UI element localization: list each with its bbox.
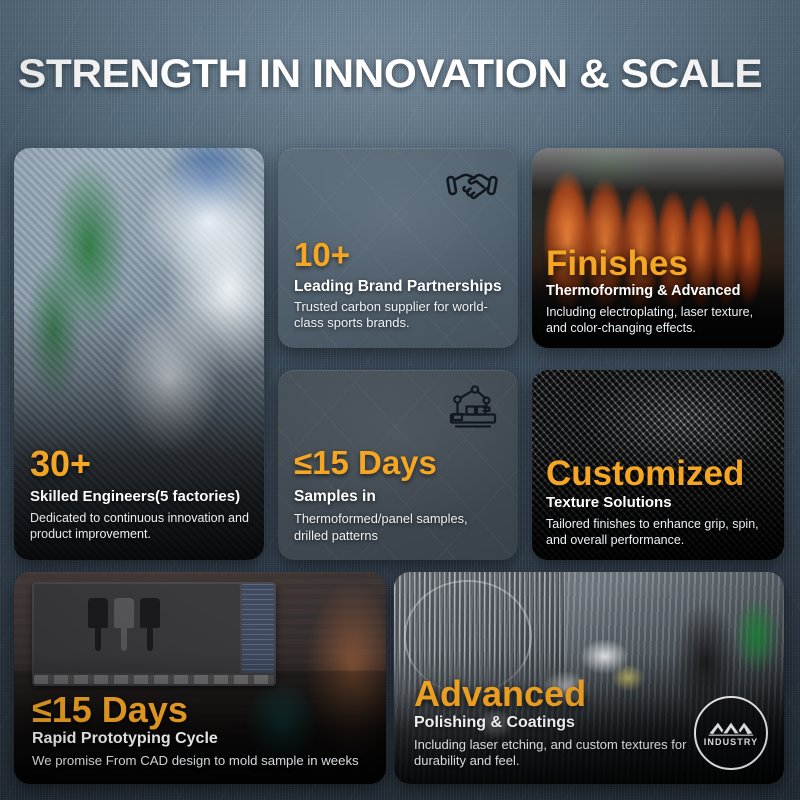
- card-body: Tailored finishes to enhance grip, spin,…: [546, 516, 778, 548]
- card-advanced-polishing[interactable]: Advanced Polishing & Coatings Including …: [394, 572, 784, 784]
- card-text-block: ≤15 Days Rapid Prototyping Cycle We prom…: [32, 692, 374, 770]
- card-body: Thermoformed/panel samples, drilled patt…: [294, 511, 504, 544]
- card-body: Including laser etching, and custom text…: [414, 737, 688, 770]
- card-body: Including electroplating, laser texture,…: [546, 304, 776, 336]
- card-headline: Samples in: [294, 488, 504, 506]
- card-headline: Polishing & Coatings: [414, 714, 688, 732]
- robotic-arm-factory-icon: [448, 384, 498, 428]
- card-headline: Texture Solutions: [546, 494, 778, 511]
- card-body: Dedicated to continuous innovation and p…: [30, 510, 250, 542]
- ama-logo-mark: [708, 720, 754, 736]
- poster-background: STRENGTH IN INNOVATION & SCALE 30+ Skill…: [0, 0, 800, 800]
- card-text-block: 30+ Skilled Engineers(5 factories) Dedic…: [30, 446, 250, 542]
- card-text-block: ≤15 Days Samples in Thermoformed/panel s…: [294, 446, 504, 544]
- stat-value: Advanced: [414, 676, 688, 712]
- stat-value: ≤15 Days: [32, 692, 374, 728]
- card-headline: Leading Brand Partnerships: [294, 278, 504, 296]
- card-text-block: Advanced Polishing & Coatings Including …: [414, 676, 688, 770]
- card-samples[interactable]: ≤15 Days Samples in Thermoformed/panel s…: [278, 370, 518, 560]
- card-headline: Skilled Engineers(5 factories): [30, 488, 250, 505]
- card-text-block: 10+ Leading Brand Partnerships Trusted c…: [294, 238, 504, 332]
- stat-value: Finishes: [546, 246, 776, 281]
- card-text-block: Customized Texture Solutions Tailored fi…: [546, 456, 778, 548]
- card-headline: Thermoforming & Advanced: [546, 283, 776, 300]
- stat-value: Customized: [546, 456, 778, 491]
- ama-logo-subtitle: INDUSTRY: [704, 738, 758, 747]
- card-text-block: Finishes Thermoforming & Advanced Includ…: [546, 246, 776, 336]
- card-body: Trusted carbon supplier for world-class …: [294, 299, 504, 332]
- card-customized[interactable]: Customized Texture Solutions Tailored fi…: [532, 370, 784, 560]
- card-body: We promise From CAD design to mold sampl…: [32, 753, 374, 770]
- stat-value: 30+: [30, 446, 250, 482]
- card-headline: Rapid Prototyping Cycle: [32, 730, 374, 748]
- handshake-icon: [446, 166, 498, 206]
- card-factory-photo[interactable]: 30+ Skilled Engineers(5 factories) Dedic…: [14, 148, 264, 560]
- card-brand-partnerships[interactable]: 10+ Leading Brand Partnerships Trusted c…: [278, 148, 518, 348]
- card-rapid-prototyping[interactable]: ≤15 Days Rapid Prototyping Cycle We prom…: [14, 572, 386, 784]
- ama-industry-logo[interactable]: INDUSTRY: [694, 696, 768, 770]
- card-finishes[interactable]: Finishes Thermoforming & Advanced Includ…: [532, 148, 784, 348]
- page-title: STRENGTH IN INNOVATION & SCALE: [18, 48, 800, 100]
- stat-value: 10+: [294, 238, 504, 271]
- stat-value: ≤15 Days: [294, 446, 504, 479]
